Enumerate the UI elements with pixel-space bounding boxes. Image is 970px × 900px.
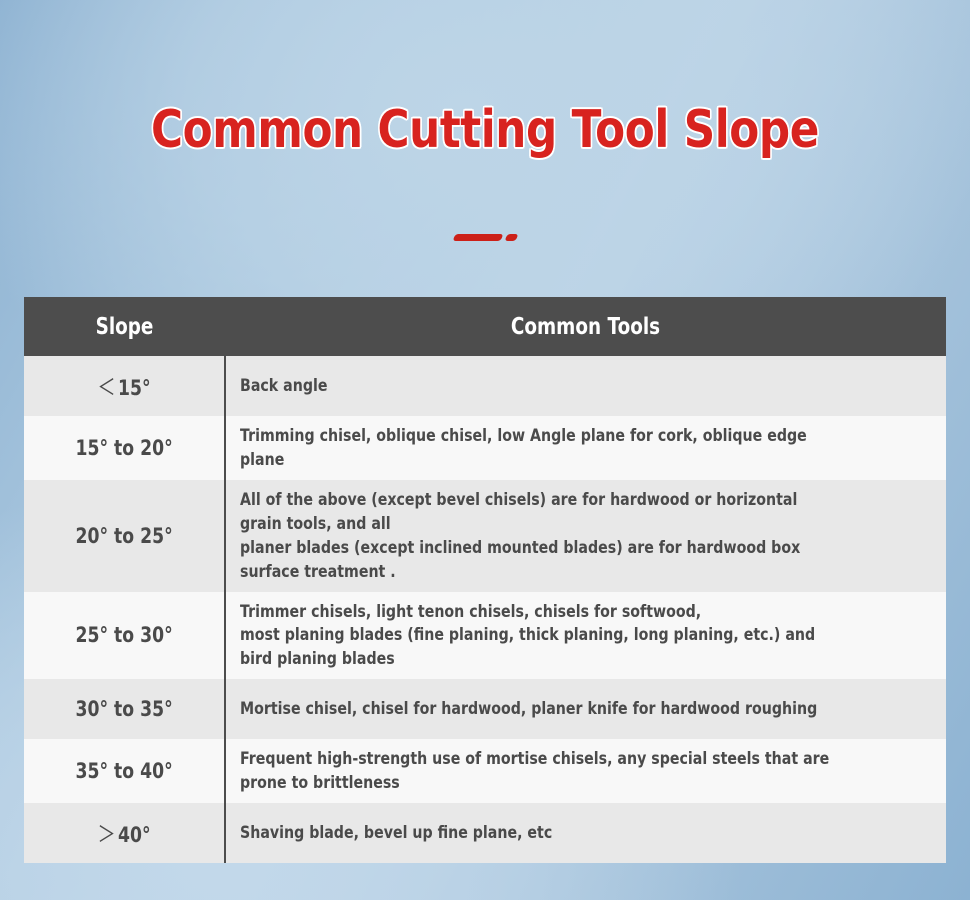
cell-tools-line-1: Back angle xyxy=(240,374,839,398)
cell-slope-value: 35° to 40° xyxy=(75,759,172,783)
comparison-glyph-icon: ＞ xyxy=(98,823,119,848)
cell-tools-line-1: Trimming chisel, oblique chisel, low Ang… xyxy=(240,424,839,472)
cell-tools-line-1: Frequent high-strength use of mortise ch… xyxy=(240,747,839,795)
table-header-row: Slope Common Tools xyxy=(24,297,946,356)
cell-common-tools-inner: All of the above (except bevel chisels) … xyxy=(240,488,839,584)
cell-slope-value: 30° to 35° xyxy=(75,697,172,721)
cell-tools-line-1: All of the above (except bevel chisels) … xyxy=(240,488,839,536)
cell-common-tools-inner: Shaving blade, bevel up fine plane, etc xyxy=(240,821,839,845)
cell-common-tools: Shaving blade, bevel up fine plane, etc xyxy=(225,803,946,863)
cell-slope: 15° to 20° xyxy=(42,416,207,480)
cell-slope-value: 40° xyxy=(118,823,151,847)
cell-tools-line-2: planer blades (except inclined mounted b… xyxy=(240,536,839,584)
cell-common-tools-inner: Trimmer chisels, light tenon chisels, ch… xyxy=(240,600,839,672)
cell-common-tools: Trimmer chisels, light tenon chisels, ch… xyxy=(225,592,946,680)
cell-common-tools: All of the above (except bevel chisels) … xyxy=(225,480,946,592)
cell-common-tools-inner: Frequent high-strength use of mortise ch… xyxy=(240,747,839,795)
cell-common-tools-inner: Mortise chisel, chisel for hardwood, pla… xyxy=(240,697,839,721)
cell-tools-line-1: Trimmer chisels, light tenon chisels, ch… xyxy=(240,600,839,624)
cell-slope-value: 25° to 30° xyxy=(75,623,172,647)
cell-slope: ＞40° xyxy=(42,803,207,863)
table-head: Slope Common Tools xyxy=(24,297,946,356)
cell-slope: 35° to 40° xyxy=(42,739,207,803)
divider-bar-icon xyxy=(452,234,503,241)
table-row: 15° to 20°Trimming chisel, oblique chise… xyxy=(24,416,946,480)
comparison-glyph-icon: ＜ xyxy=(98,376,119,401)
page-root: Common Cutting Tool Slope Common planer … xyxy=(0,0,970,900)
table-row: 35° to 40°Frequent high-strength use of … xyxy=(24,739,946,803)
table-row: ＜15°Back angle xyxy=(24,356,946,416)
cell-tools-line-1: Mortise chisel, chisel for hardwood, pla… xyxy=(240,697,839,721)
cell-slope-value: 15° xyxy=(118,376,151,400)
column-header-common-tools: Common Tools xyxy=(297,297,874,356)
cell-common-tools: Mortise chisel, chisel for hardwood, pla… xyxy=(225,679,946,739)
slope-table: Slope Common Tools ＜15°Back angle15° to … xyxy=(24,297,946,863)
cell-common-tools: Frequent high-strength use of mortise ch… xyxy=(225,739,946,803)
table-row: 20° to 25°All of the above (except bevel… xyxy=(24,480,946,592)
cell-common-tools: Trimming chisel, oblique chisel, low Ang… xyxy=(225,416,946,480)
cell-slope-value: 15° to 20° xyxy=(75,436,172,460)
cell-common-tools-inner: Back angle xyxy=(240,374,839,398)
page-title: Common Cutting Tool Slope xyxy=(78,104,893,156)
cell-common-tools: Back angle xyxy=(225,356,946,416)
cell-tools-line-1: Shaving blade, bevel up fine plane, etc xyxy=(240,821,839,845)
table-row: 25° to 30°Trimmer chisels, light tenon c… xyxy=(24,592,946,680)
cell-slope: 20° to 25° xyxy=(42,480,207,592)
table-body: ＜15°Back angle15° to 20°Trimming chisel,… xyxy=(24,356,946,863)
column-header-slope: Slope xyxy=(44,297,205,356)
table-row: 30° to 35°Mortise chisel, chisel for har… xyxy=(24,679,946,739)
cell-slope-value: 20° to 25° xyxy=(75,524,172,548)
slope-table-container: Slope Common Tools ＜15°Back angle15° to … xyxy=(24,297,946,863)
cell-tools-line-2: most planing blades (fine planing, thick… xyxy=(240,623,839,671)
cell-slope: 30° to 35° xyxy=(42,679,207,739)
table-row: ＞40°Shaving blade, bevel up fine plane, … xyxy=(24,803,946,863)
cell-common-tools-inner: Trimming chisel, oblique chisel, low Ang… xyxy=(240,424,839,472)
cell-slope: 25° to 30° xyxy=(42,592,207,680)
cell-slope: ＜15° xyxy=(42,356,207,416)
